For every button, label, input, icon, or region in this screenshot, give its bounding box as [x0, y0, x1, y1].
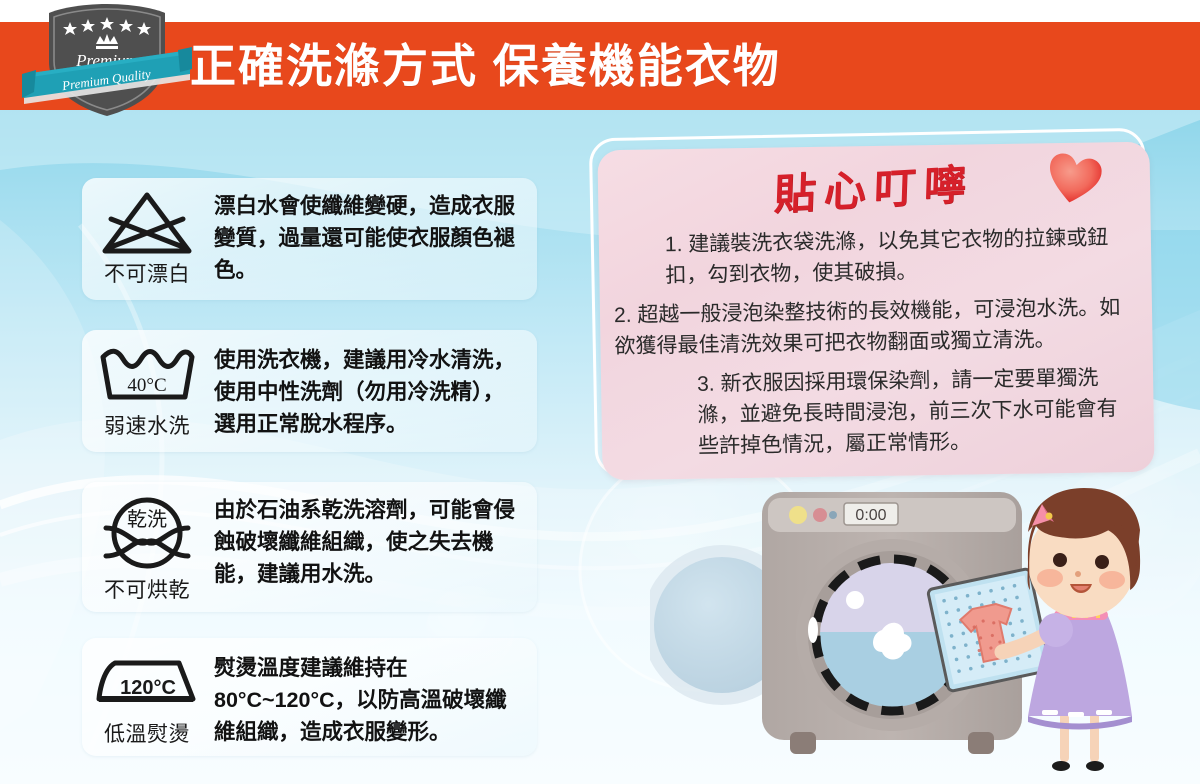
care-description: 漂白水會使纖維變硬，造成衣服變質，過量還可能使衣服顏色褪色。: [212, 186, 537, 286]
care-label: 不可漂白: [104, 258, 190, 288]
eye: [1053, 553, 1067, 567]
tip-item: 1. 建議裝洗衣袋洗滌，以免其它衣物的拉鍊或鈕扣，勾到衣物，使其破損。: [599, 222, 1152, 293]
machine-foot: [790, 732, 816, 754]
care-card-low-temp-iron: 120°C 低溫熨燙 熨燙溫度建議維持在80°C~120°C，以防高溫破壞纖維組…: [82, 638, 537, 756]
wash-tub-icon: 40°C: [97, 347, 197, 403]
cheek: [1099, 571, 1125, 589]
pink-button-icon: [813, 508, 827, 522]
icon-column: 40°C 弱速水洗: [82, 338, 212, 440]
care-description: 由於石油系乾洗溶劑，可能會侵蝕破壞纖維組織，使之失去機能，建議用水洗。: [212, 490, 537, 590]
care-card-gentle-wash: 40°C 弱速水洗 使用洗衣機，建議用冷水清洗，使用中性洗劑（勿用冷洗精），選用…: [82, 330, 537, 452]
eye: [1095, 555, 1109, 569]
small-indicator-icon: [829, 511, 837, 519]
care-description: 熨燙溫度建議維持在80°C~120°C，以防高溫破壞纖維組織，造成衣服變形。: [212, 646, 537, 748]
machine-display-text: 0:00: [855, 507, 886, 524]
iron-temp-text: 120°C: [120, 677, 176, 699]
laundry-bag-icon: [927, 568, 1050, 691]
dryclean-text: 乾洗: [127, 508, 167, 531]
tips-list: 1. 建議裝洗衣袋洗滌，以免其它衣物的拉鍊或鈕扣，勾到衣物，使其破損。 2. 超…: [599, 222, 1155, 472]
sleeve: [1039, 613, 1073, 647]
care-label: 低溫熨燙: [104, 718, 190, 748]
wash-temp-text: 40°C: [127, 375, 166, 396]
yellow-button-icon: [789, 506, 807, 524]
shoe: [1086, 761, 1104, 771]
care-card-no-bleach: 不可漂白 漂白水會使纖維變硬，造成衣服變質，過量還可能使衣服顏色褪色。: [82, 178, 537, 300]
care-label: 不可烘乾: [104, 574, 190, 604]
no-bleach-triangle-icon: [101, 191, 193, 255]
shoe: [1052, 761, 1070, 771]
premium-quality-badge: Premium Premium Quality: [22, 0, 192, 118]
icon-column: 不可漂白: [82, 186, 212, 288]
care-card-no-tumble-dry: 乾洗 不可烘乾 由於石油系乾洗溶劑，可能會侵蝕破壞纖維組織，使之失去機能，建議用…: [82, 482, 537, 612]
icon-column: 乾洗 不可烘乾: [82, 490, 212, 604]
care-description: 使用洗衣機，建議用冷水清洗，使用中性洗劑（勿用冷洗精），選用正常脫水程序。: [212, 338, 537, 440]
iron-icon: 120°C: [93, 657, 201, 709]
machine-foot: [968, 732, 994, 754]
page-title: 正確洗滌方式 保養機能衣物: [190, 30, 781, 102]
icon-column: 120°C 低溫熨燙: [82, 646, 212, 748]
tip-item: 3. 新衣服因採用環保染劑，請一定要單獨洗滌，並避免長時間浸泡，前三次下水可能會…: [601, 362, 1154, 464]
cheek: [1037, 569, 1063, 587]
washing-machine-illustration: 0:00: [650, 470, 1200, 784]
care-label: 弱速水洗: [104, 410, 190, 440]
tips-panel: 貼心叮嚀 1. 建議裝洗衣袋洗滌，以免其它衣物的拉鍊或鈕扣，勾到衣物，使其破損。…: [597, 142, 1154, 481]
heart-icon: [1041, 148, 1106, 210]
drum-latch: [808, 617, 818, 643]
tip-item: 2. 超越一般浸泡染整技術的長效機能，可浸泡水洗。如欲獲得最佳清洗效果可把衣物翻…: [600, 292, 1153, 363]
infographic-canvas: Premium Premium Quality 正確洗滌方式 保養機能衣物: [0, 0, 1200, 784]
no-dryclean-circle-icon: 乾洗: [92, 494, 202, 572]
nose: [1075, 571, 1081, 577]
